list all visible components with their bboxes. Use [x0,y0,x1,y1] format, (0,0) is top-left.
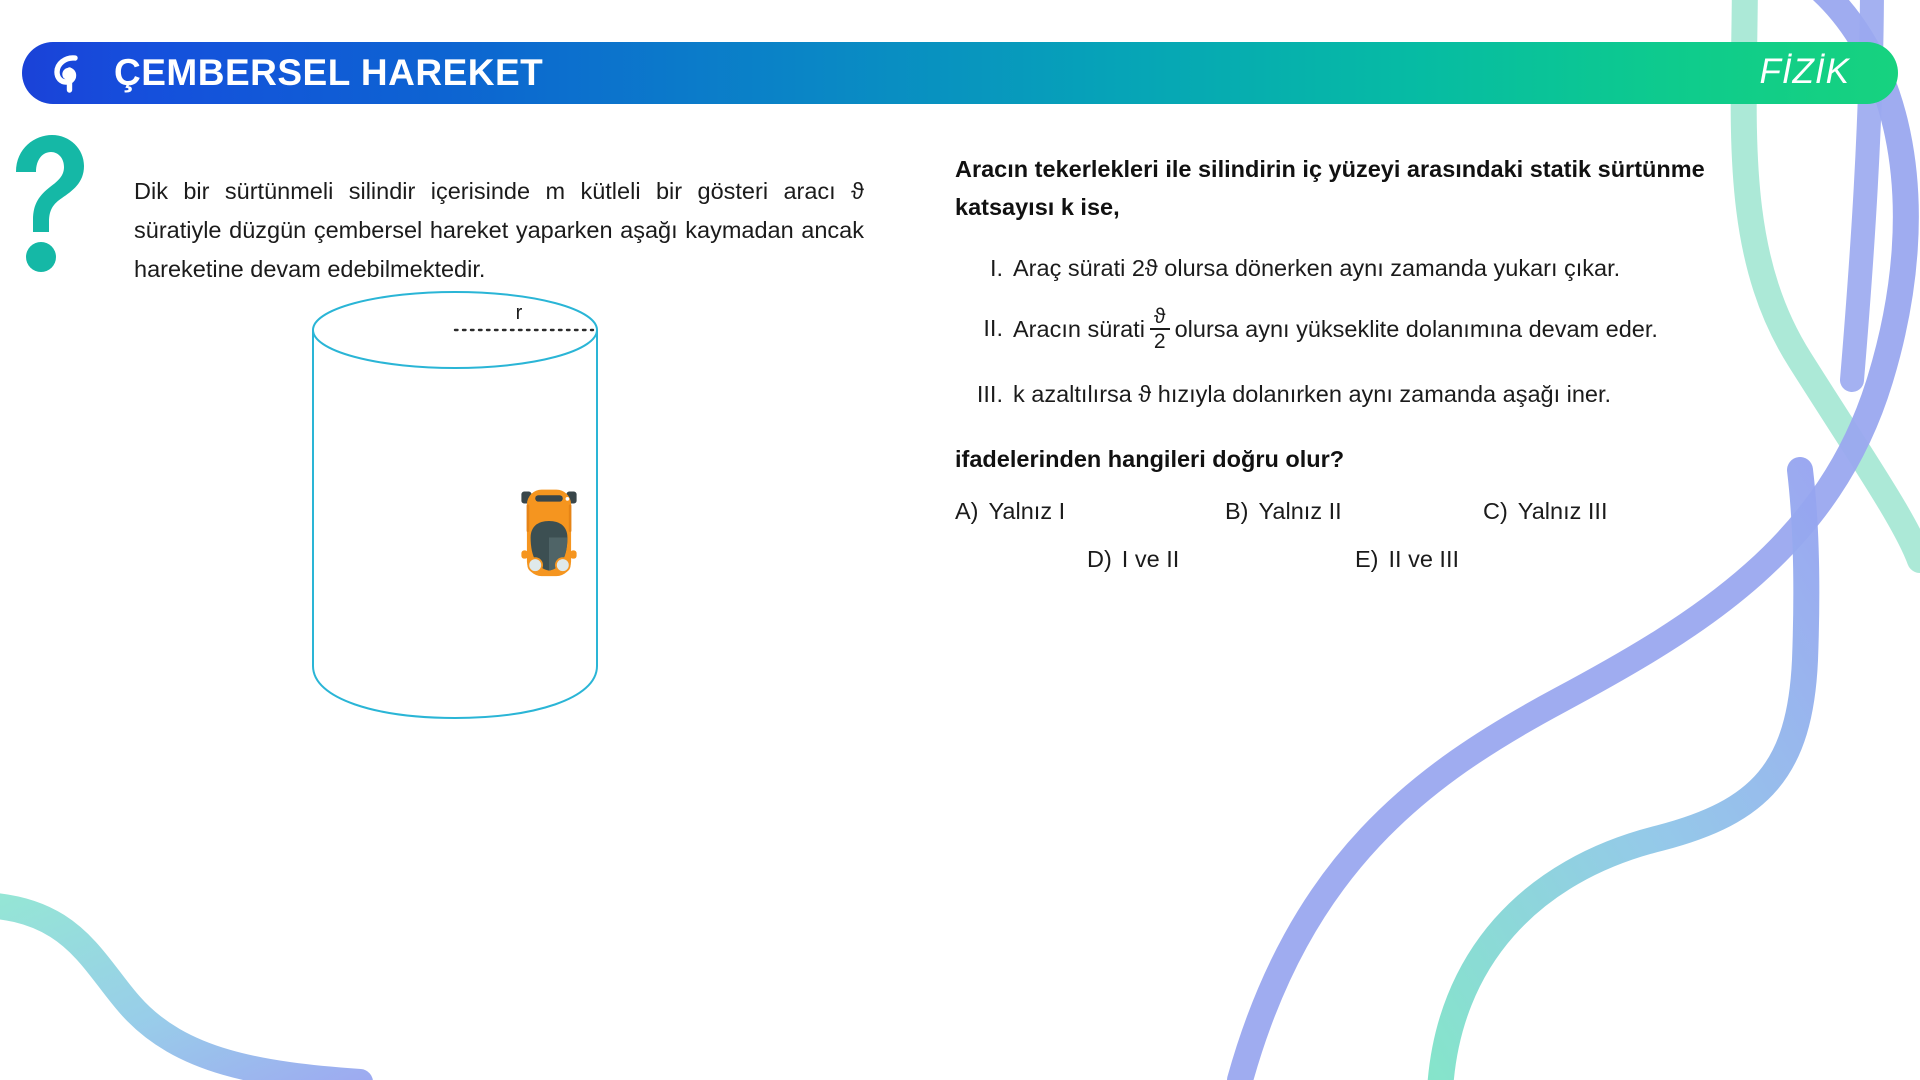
right-column: Aracın tekerlekleri ile silindirin iç yü… [955,150,1715,594]
statement-ii-text: Aracın süratiϑ2olursa aynı yükseklite do… [1013,308,1715,354]
page-title: ÇEMBERSEL HAREKET [114,42,543,104]
radius-label: r [516,302,523,324]
option-b[interactable]: B)Yalnız II [1225,498,1342,525]
question-mark-icon [6,130,90,280]
statement-ii-number: II. [955,308,1013,348]
option-d[interactable]: D)I ve II [1087,546,1179,573]
question-stem: Dik bir sürtünmeli silindir içerisinde m… [134,172,864,289]
option-e-text: II ve III [1389,546,1460,572]
option-d-text: I ve II [1122,546,1179,572]
subject-badge-label: FİZİK [1759,42,1850,104]
statement-iii-text: k azaltılırsa ϑ hızıyla dolanırken aynı … [1013,374,1715,414]
left-column: Dik bir sürtünmeli silindir içerisinde m… [134,148,864,312]
header-bar: ÇEMBERSEL HAREKET FİZİK [22,42,1898,104]
fraction-denominator: 2 [1150,330,1170,352]
fraction-numerator: ϑ [1150,306,1169,328]
statement-iii-number: III. [955,374,1013,414]
option-a[interactable]: A)Yalnız I [955,498,1065,525]
lead-in-text: Aracın tekerlekleri ile silindirin iç yü… [955,150,1715,226]
option-c-label: C) [1483,498,1508,524]
option-e[interactable]: E)II ve III [1355,546,1459,573]
cylinder-with-car-diagram: r [300,290,630,740]
option-e-label: E) [1355,546,1379,572]
option-d-label: D) [1087,546,1112,572]
option-a-text: Yalnız I [989,498,1066,524]
statement-ii: II. Aracın süratiϑ2olursa aynı yükseklit… [955,308,1715,354]
options-row-2: D)I ve II E)II ve III [955,546,1715,594]
swoosh-bottom-left [0,905,360,1080]
options-row-1: A)Yalnız I B)Yalnız II C)Yalnız III [955,498,1715,546]
cylinder-bottom-arc [313,666,597,718]
question-prompt: ifadelerinden hangileri doğru olur? [955,440,1715,478]
option-c[interactable]: C)Yalnız III [1483,498,1607,525]
statement-ii-text-before: Aracın sürati [1013,316,1145,342]
option-b-label: B) [1225,498,1249,524]
statement-i-number: I. [955,248,1013,288]
statement-ii-text-after: olursa aynı yükseklite dolanımına devam … [1175,316,1658,342]
option-c-text: Yalnız III [1518,498,1608,524]
statement-i: I. Araç sürati 2ϑ olursa dönerken aynı z… [955,248,1715,288]
velocity-over-two-fraction: ϑ2 [1150,306,1170,352]
top-view-car-icon [521,490,576,576]
option-a-label: A) [955,498,979,524]
option-b-text: Yalnız II [1259,498,1342,524]
statement-i-text: Araç sürati 2ϑ olursa dönerken aynı zama… [1013,248,1715,288]
statement-iii: III. k azaltılırsa ϑ hızıyla dolanırken … [955,374,1715,414]
pi-loop-logo-icon [44,49,92,97]
